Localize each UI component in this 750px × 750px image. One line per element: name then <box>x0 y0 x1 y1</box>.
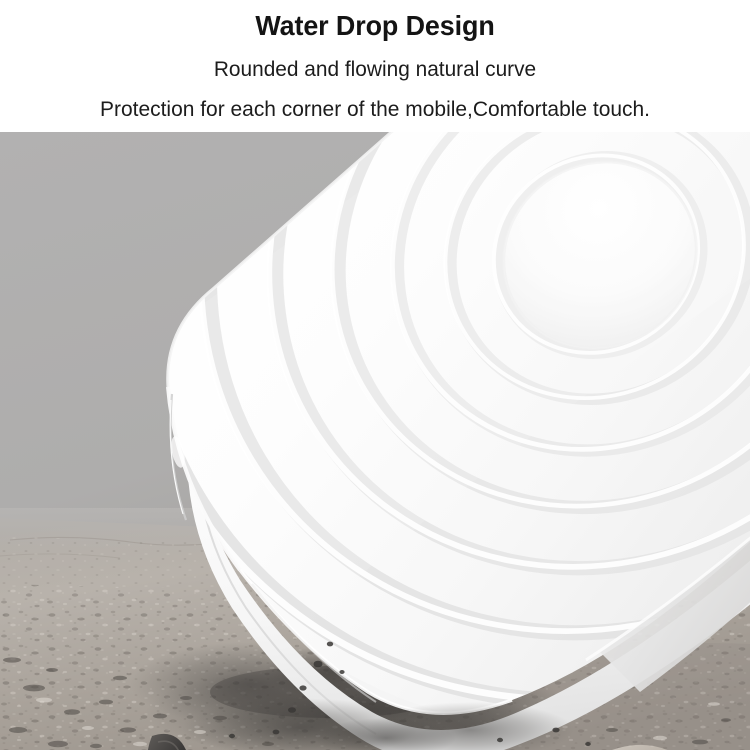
subtitle-line-1: Rounded and flowing natural curve <box>11 57 739 83</box>
subtitle-line-2: Protection for each corner of the mobile… <box>9 97 740 123</box>
page-title: Water Drop Design <box>15 9 735 42</box>
product-photo <box>0 132 750 750</box>
promo-banner: Water Drop Design Rounded and flowing na… <box>0 0 750 750</box>
header-text-block: Water Drop Design Rounded and flowing na… <box>0 0 750 132</box>
product-photo-illustration <box>0 132 750 750</box>
